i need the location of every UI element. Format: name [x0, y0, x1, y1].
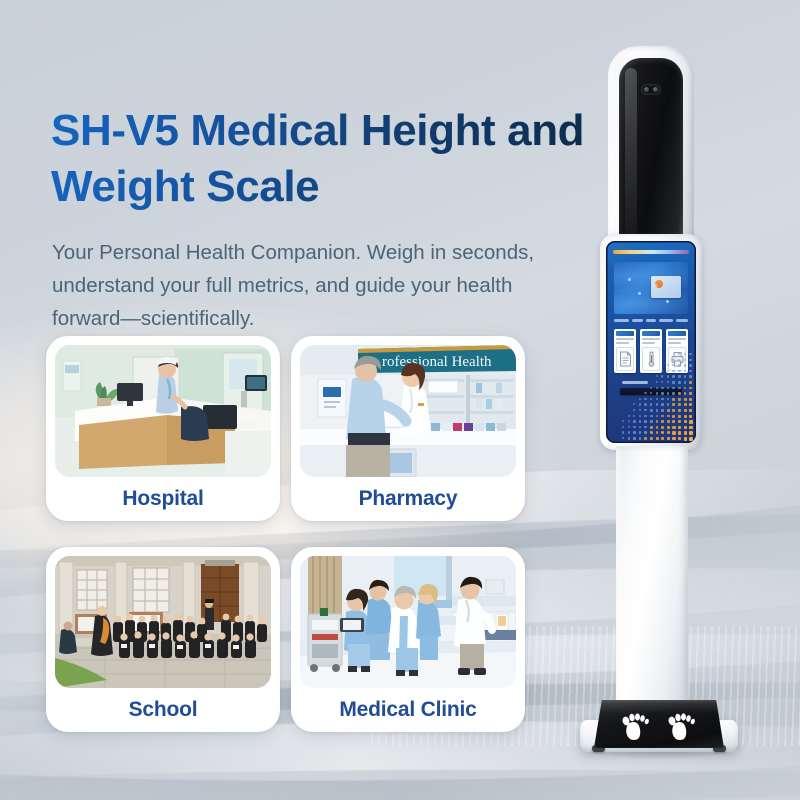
report-card-icon [651, 276, 681, 298]
page-title: SH-V5 Medical Height and Weight Scale [51, 103, 591, 214]
scenario-label: Pharmacy [300, 477, 516, 521]
scenario-card-pharmacy[interactable]: rofessional Health [291, 336, 525, 521]
device-body-post [616, 446, 688, 708]
page-subtitle: Your Personal Health Companion. Weigh in… [52, 236, 552, 336]
kiosk-screen[interactable] [606, 241, 696, 443]
footprint-right-icon [665, 712, 699, 742]
medical-clinic-photo [300, 556, 516, 688]
scenario-label: Hospital [55, 477, 271, 521]
scenario-label: Medical Clinic [300, 688, 516, 732]
pharmacy-counter-photo: rofessional Health [300, 345, 516, 477]
ultrasonic-sensor-icon [641, 84, 661, 95]
footprint-left-icon [619, 712, 653, 742]
hospital-reception-photo [55, 345, 271, 477]
product-image-sh-v5-scale [564, 46, 754, 760]
footprint-guides [619, 712, 699, 742]
screen-top-gradient-bar [613, 250, 689, 254]
product-marketing-banner: SH-V5 Medical Height and Weight Scale Yo… [0, 0, 800, 800]
scenario-card-school[interactable]: School [46, 547, 280, 732]
scenario-card-medical-clinic[interactable]: Medical Clinic [291, 547, 525, 732]
screen-hero-panel [614, 262, 688, 314]
screen-caption-text [614, 318, 688, 323]
scenario-card-grid: Hospital rofessional Health [46, 336, 526, 732]
scenario-label: School [55, 688, 271, 732]
school-steps-photo [55, 556, 271, 688]
column-glass-panel [619, 58, 683, 244]
svg-text:rofessional Health: rofessional Health [382, 354, 492, 370]
scenario-card-hospital[interactable]: Hospital [46, 336, 280, 521]
screen-dot-pattern [620, 351, 696, 443]
platform-glass-top [594, 700, 724, 748]
kiosk-display-bezel [600, 234, 702, 450]
weighing-platform [574, 694, 744, 762]
